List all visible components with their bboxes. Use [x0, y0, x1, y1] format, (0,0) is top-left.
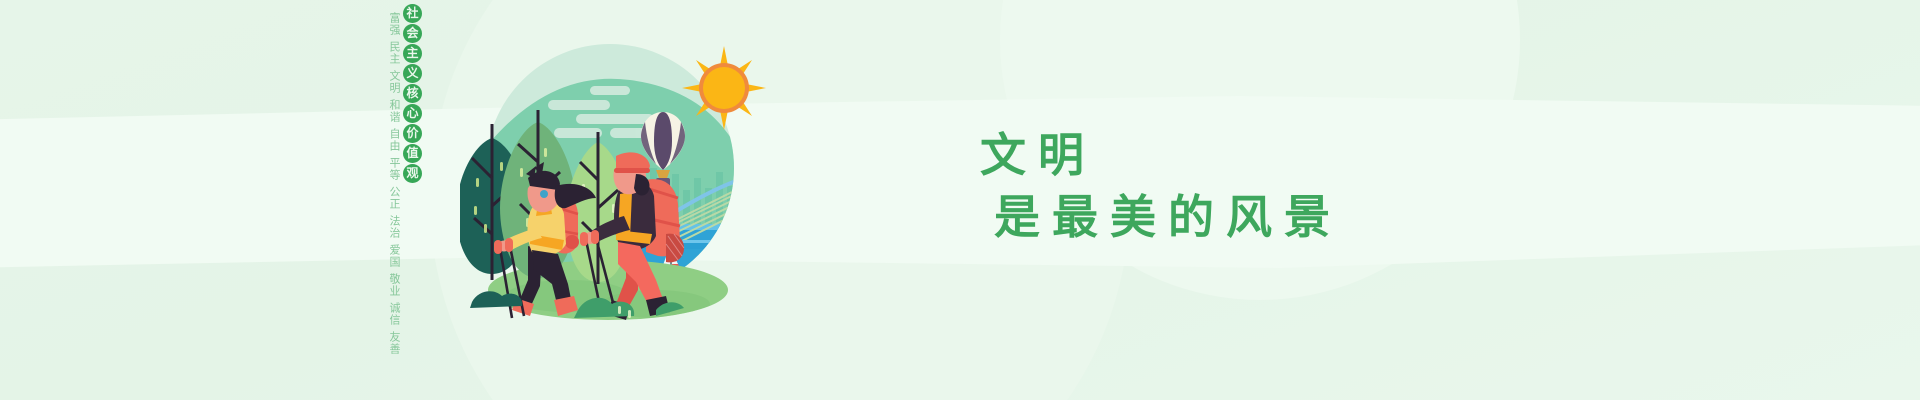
badge-char: 会 [403, 24, 422, 43]
badge-char: 观 [403, 164, 422, 183]
background-diagonal-band [0, 96, 1920, 268]
headline-line-1: 文明 [980, 124, 1342, 186]
core-value-word: 诚信 [388, 302, 400, 326]
badge-char: 值 [403, 144, 422, 163]
badge-char: 义 [403, 64, 422, 83]
core-value-word: 民主 [388, 41, 400, 65]
hikers-illustration [460, 28, 780, 328]
badge-char: 心 [403, 104, 422, 123]
core-value-word: 和谐 [388, 99, 400, 123]
core-values-badge-title: 社 会 主 义 核 心 价 值 观 [403, 4, 422, 183]
core-value-word: 法治 [388, 215, 400, 239]
core-values-column: 社 会 主 义 核 心 价 值 观 富强 民主 文明 和谐 自由 平等 公正 法… [388, 4, 422, 344]
banner-root: 社 会 主 义 核 心 价 值 观 富强 民主 文明 和谐 自由 平等 公正 法… [0, 0, 1920, 400]
badge-char: 核 [403, 84, 422, 103]
core-value-word: 富强 [388, 12, 400, 36]
core-value-word: 敬业 [388, 273, 400, 297]
core-value-word: 公正 [388, 186, 400, 210]
headline-line-2: 是最美的风景 [994, 186, 1342, 248]
core-value-word: 爱国 [388, 244, 400, 268]
core-value-word: 自由 [388, 128, 400, 152]
badge-char: 主 [403, 44, 422, 63]
core-value-word: 友善 [388, 331, 400, 355]
core-values-word-list: 富强 民主 文明 和谐 自由 平等 公正 法治 爱国 敬业 诚信 友善 [388, 4, 400, 360]
core-value-word: 文明 [388, 70, 400, 94]
badge-char: 价 [403, 124, 422, 143]
headline-block: 文明 是最美的风景 [980, 124, 1342, 248]
core-value-word: 平等 [388, 157, 400, 181]
badge-char: 社 [403, 4, 422, 23]
